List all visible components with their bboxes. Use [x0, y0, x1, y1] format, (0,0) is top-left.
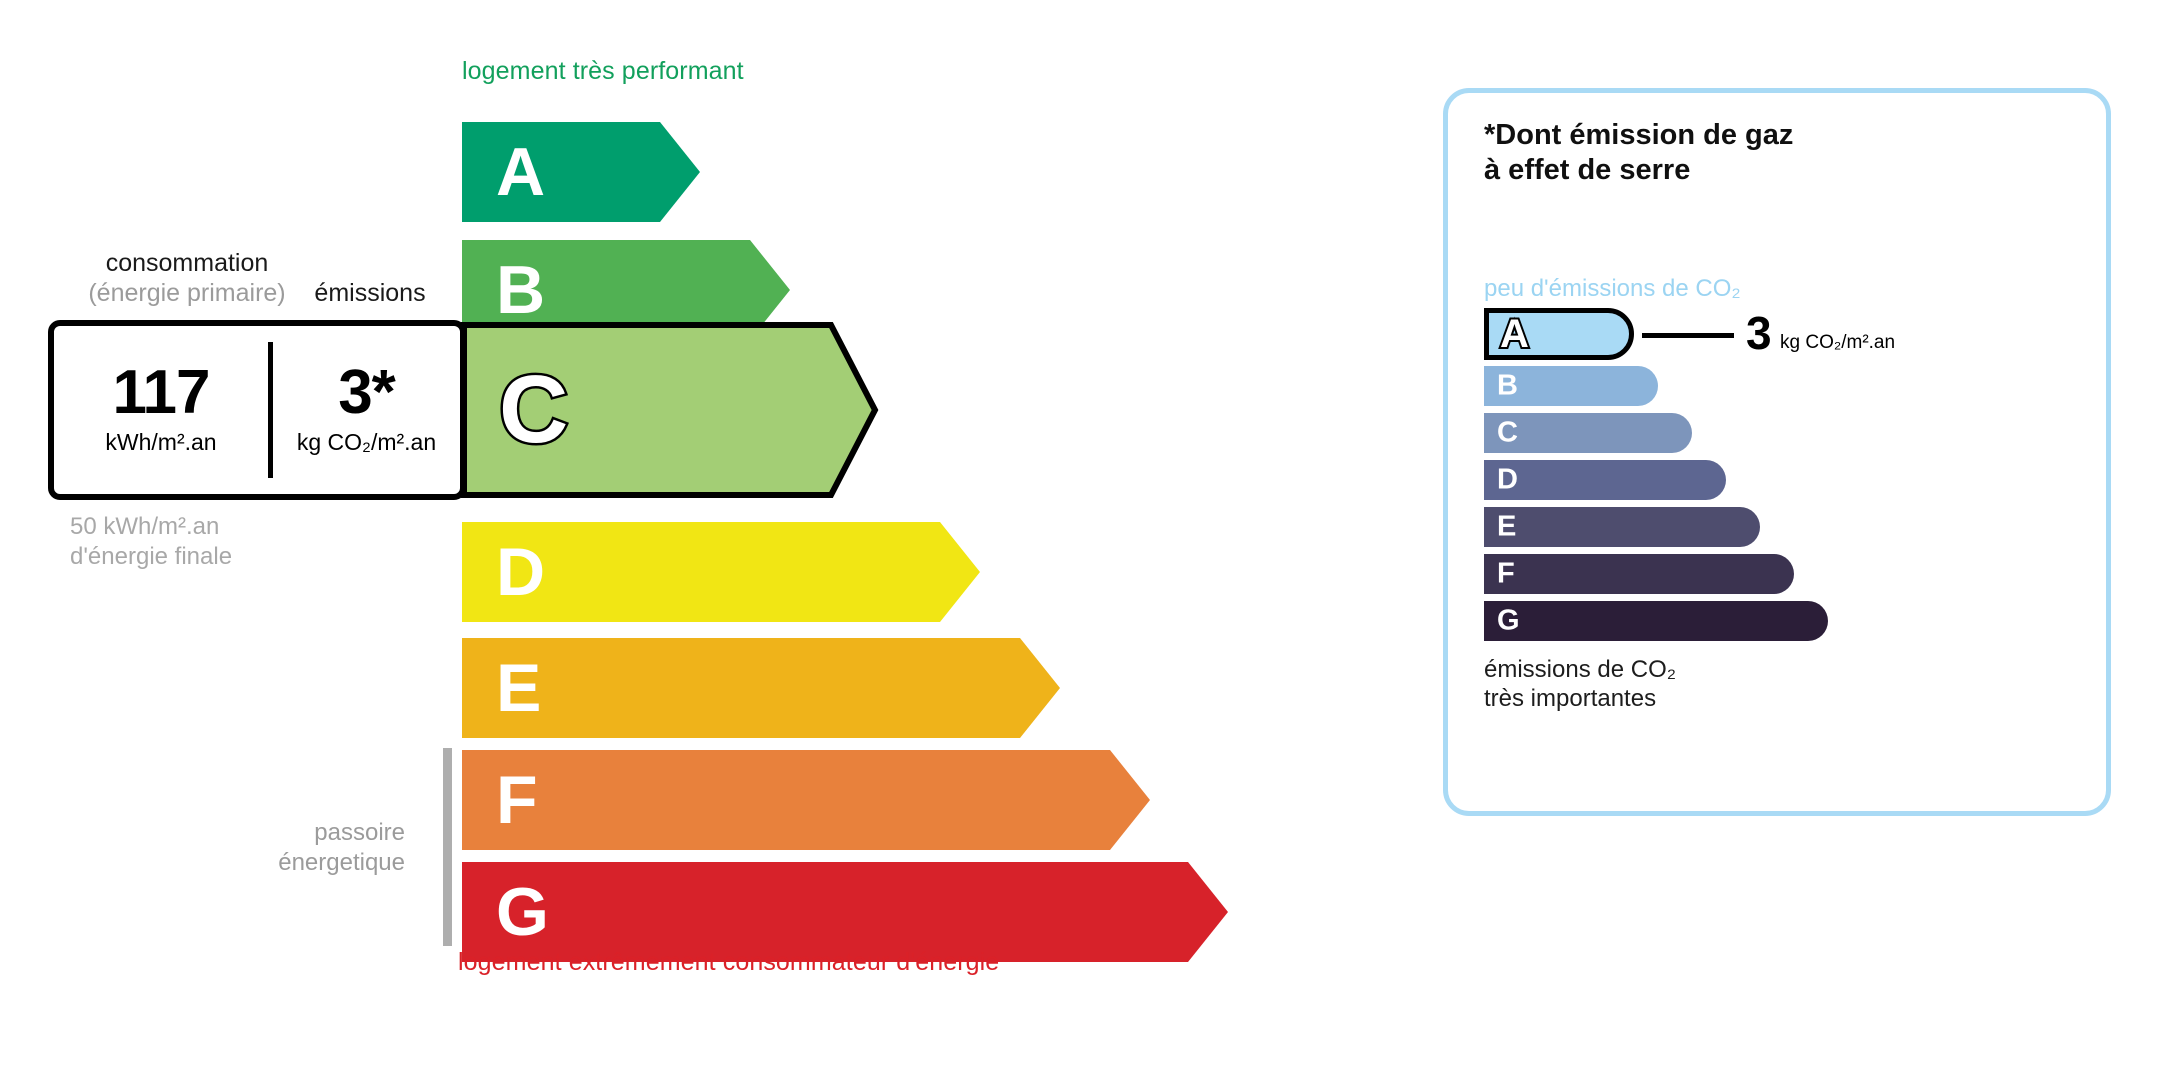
- ges-bar-d-letter: D: [1497, 466, 1518, 495]
- greenhouse-gas-panel: *Dont émission de gazà effet de serre pe…: [1443, 88, 2111, 816]
- ges-leader-line: [1642, 333, 1734, 338]
- value-box: 117 kWh/m².an 3* kg CO₂/m².an: [48, 320, 466, 500]
- energy-band-d-letter: D: [496, 538, 545, 606]
- energy-band-g-letter: G: [496, 878, 549, 946]
- energy-band-e-letter: E: [496, 654, 541, 722]
- ges-row-a-current[interactable]: A 3 kg CO₂/m².an: [1484, 308, 2084, 360]
- energy-band-c-letter: C: [499, 362, 568, 458]
- ges-bar-g: [1484, 601, 1828, 641]
- energy-band-g[interactable]: G: [462, 862, 1230, 962]
- passoire-bracket: [443, 748, 452, 946]
- ges-bar-a-letter: A: [1500, 314, 1529, 354]
- ges-bar-d: [1484, 460, 1726, 500]
- ges-bar-b-letter: B: [1497, 372, 1518, 401]
- ges-bar-c-letter: C: [1497, 419, 1518, 448]
- ges-low-emissions-label: peu d'émissions de CO₂: [1484, 275, 1741, 303]
- ges-row-c[interactable]: C: [1484, 413, 2084, 453]
- ges-bar-g-letter: G: [1497, 607, 1520, 636]
- passoire-label: passoireénergetique: [230, 818, 405, 878]
- ges-row-d[interactable]: D: [1484, 460, 2084, 500]
- consumption-value-cell: 117 kWh/m².an: [54, 326, 268, 494]
- energy-band-b-letter: B: [496, 256, 545, 324]
- energy-band-c-current[interactable]: C: [461, 322, 881, 498]
- consumption-value: 117: [112, 364, 209, 423]
- energy-band-a-letter: A: [496, 138, 545, 206]
- ges-bar-f-letter: F: [1497, 560, 1515, 589]
- ges-bar-list: A 3 kg CO₂/m².an B C D E F G: [1484, 308, 2084, 648]
- emission-value-cell: 3* kg CO₂/m².an: [273, 326, 460, 494]
- final-energy-note: 50 kWh/m².and'énergie finale: [70, 512, 400, 572]
- ges-row-f[interactable]: F: [1484, 554, 2084, 594]
- emissions-header: émissions: [290, 279, 450, 308]
- ges-panel-title: *Dont émission de gazà effet de serre: [1484, 118, 1793, 188]
- ges-bar-e: [1484, 507, 1760, 547]
- ges-row-b[interactable]: B: [1484, 366, 2084, 406]
- consumption-subheader: (énergie primaire): [42, 279, 332, 308]
- energy-band-d[interactable]: D: [462, 522, 982, 622]
- ges-bar-e-letter: E: [1497, 513, 1516, 542]
- ges-value: 3: [1746, 310, 1772, 356]
- ges-row-g[interactable]: G: [1484, 601, 2084, 641]
- energy-band-f-letter: F: [496, 766, 538, 834]
- ges-high-emissions-label: émissions de CO₂très importantes: [1484, 655, 1676, 713]
- ges-row-e[interactable]: E: [1484, 507, 2084, 547]
- energy-band-f[interactable]: F: [462, 750, 1152, 850]
- bottom-caption: logement extrêmement consommateur d'éner…: [458, 948, 999, 977]
- top-caption: logement très performant: [462, 57, 744, 86]
- energy-band-e[interactable]: E: [462, 638, 1062, 738]
- consumption-header: consommation: [62, 249, 312, 278]
- emission-value: 3*: [338, 364, 395, 423]
- ges-bar-f: [1484, 554, 1794, 594]
- emission-unit: kg CO₂/m².an: [297, 429, 436, 456]
- energy-performance-diagram: logement très performant consommation (é…: [0, 0, 1380, 1079]
- consumption-unit: kWh/m².an: [105, 429, 216, 456]
- ges-value-unit: kg CO₂/m².an: [1780, 332, 1895, 354]
- energy-band-a[interactable]: A: [462, 122, 702, 222]
